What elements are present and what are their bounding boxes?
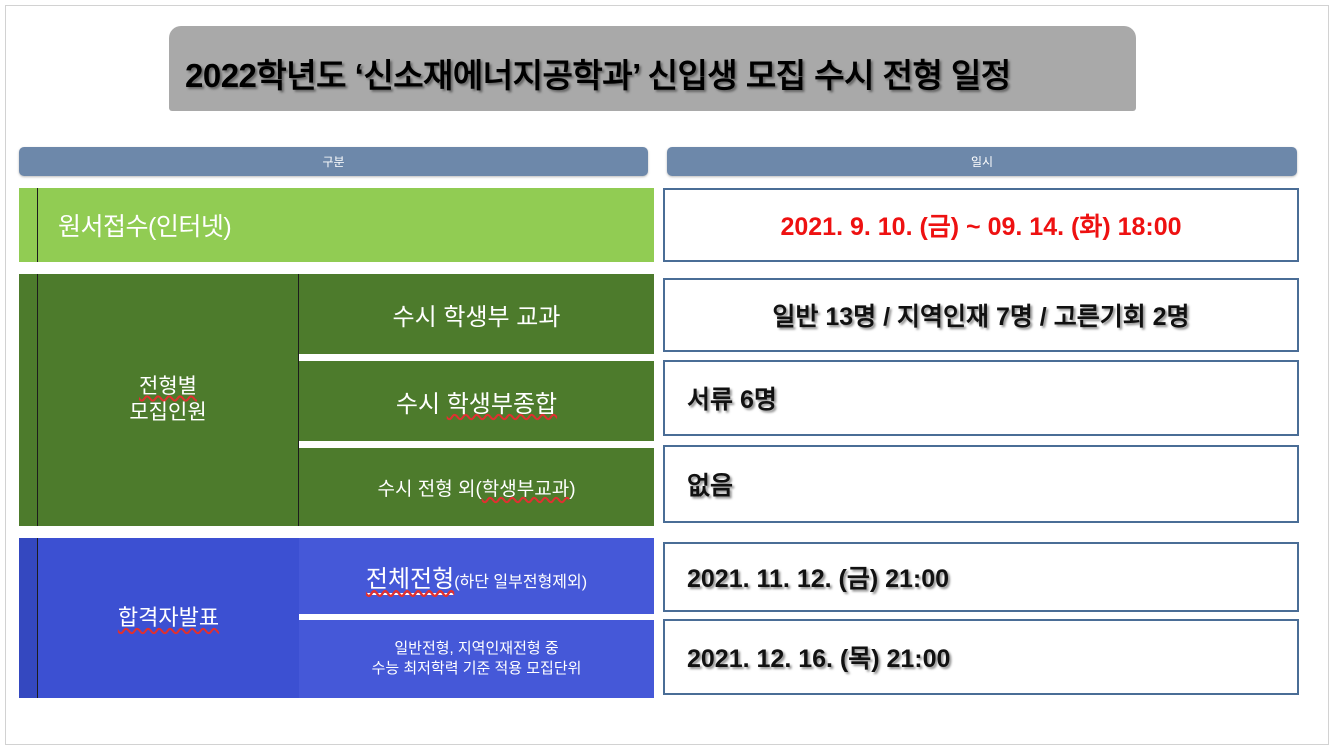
block-quota-body: 전형별 모집인원 수시 학생부 교과 수시 학생부종합 수시 전형 외(학생부교… bbox=[38, 274, 654, 526]
announcement-value-2: 2021. 12. 16. (목) 21:00 bbox=[665, 639, 1297, 675]
quota-subrow-susi-jonghap: 수시 학생부종합 bbox=[299, 361, 654, 441]
row-application-value: 2021. 9. 10. (금) ~ 09. 14. (화) 18:00 bbox=[665, 207, 1297, 243]
row-application-label: 원서접수(인터넷) bbox=[58, 207, 231, 243]
quota-subrow-susi-gyogwa: 수시 학생부 교과 bbox=[299, 274, 654, 354]
announcement-subrow-2-line2: 수능 최저학력 기준 적용 모집단위 bbox=[372, 660, 582, 677]
quota-value-2: 서류 6명 bbox=[665, 380, 1297, 416]
block-announcement-label-text: 합격자발표 bbox=[118, 604, 219, 632]
block-quota-category: 전형별 모집인원 수시 학생부 교과 수시 학생부종합 수시 전형 외(학생부교… bbox=[19, 274, 654, 526]
column-header-category-label: 구분 bbox=[322, 153, 344, 170]
announcement-subrow-1-paren: (하단 일부전형제외) bbox=[454, 574, 587, 591]
block-announcement-body: 합격자발표 전체전형(하단 일부전형제외) 일반전형, 지역인재전형 중 수능 … bbox=[38, 538, 654, 698]
quota-value-3: 없음 bbox=[665, 466, 1297, 502]
announcement-value-box-2: 2021. 12. 16. (목) 21:00 bbox=[663, 619, 1299, 695]
announcement-value-box-1: 2021. 11. 12. (금) 21:00 bbox=[663, 542, 1299, 612]
quota-subrow-1-prefix: 수시 bbox=[393, 304, 444, 331]
quota-value-1: 일반 13명 / 지역인재 7명 / 고른기회 2명 bbox=[665, 297, 1297, 333]
slide-title-box: 2022학년도 ‘신소재에너지공학과’ 신입생 모집 수시 전형 일정 bbox=[169, 26, 1136, 111]
quota-value-box-3: 없음 bbox=[663, 445, 1299, 523]
block-announcement-subrows: 전체전형(하단 일부전형제외) 일반전형, 지역인재전형 중 수능 최저학력 기… bbox=[299, 538, 654, 698]
quota-subrow-2-marked: 학생부종합 bbox=[447, 391, 557, 418]
row-application-value-box: 2021. 9. 10. (금) ~ 09. 14. (화) 18:00 bbox=[663, 188, 1299, 262]
announcement-subrow-all: 전체전형(하단 일부전형제외) bbox=[299, 538, 654, 614]
slide-canvas: 2022학년도 ‘신소재에너지공학과’ 신입생 모집 수시 전형 일정 구분 일… bbox=[5, 5, 1329, 745]
row-application-body: 원서접수(인터넷) bbox=[38, 188, 654, 262]
announcement-subrow-2-line1: 일반전형, 지역인재전형 중 bbox=[394, 640, 558, 657]
column-header-datetime: 일시 bbox=[667, 147, 1297, 176]
page-title: 2022학년도 ‘신소재에너지공학과’ 신입생 모집 수시 전형 일정 bbox=[185, 49, 1011, 97]
announcement-subrow-1-main: 전체전형 bbox=[366, 566, 454, 595]
quota-subrow-3-suffix: ) bbox=[569, 479, 575, 500]
block-quota-label: 전형별 모집인원 bbox=[38, 274, 299, 526]
block-quota-label-line1: 전형별 bbox=[139, 375, 197, 398]
column-header-datetime-label: 일시 bbox=[971, 153, 993, 170]
quota-subrow-susi-oe: 수시 전형 외(학생부교과) bbox=[299, 448, 654, 526]
quota-value-box-1: 일반 13명 / 지역인재 7명 / 고른기회 2명 bbox=[663, 278, 1299, 352]
block-quota-label-line2: 모집인원 bbox=[129, 401, 206, 424]
quota-subrow-1-marked: 학생부 교과 bbox=[443, 304, 560, 331]
quota-subrow-3-prefix: 수시 전형 외( bbox=[377, 479, 481, 500]
quota-subrow-3-marked: 학생부교과 bbox=[482, 479, 569, 500]
block-announcement-label: 합격자발표 bbox=[38, 538, 299, 698]
row-application-category: 원서접수(인터넷) bbox=[19, 188, 654, 262]
announcement-subrow-minimum: 일반전형, 지역인재전형 중 수능 최저학력 기준 적용 모집단위 bbox=[299, 620, 654, 698]
accent-strip bbox=[19, 538, 38, 698]
quota-subrow-2-prefix: 수시 bbox=[396, 391, 447, 418]
column-header-category: 구분 bbox=[19, 147, 648, 176]
accent-strip bbox=[19, 274, 38, 526]
quota-value-box-2: 서류 6명 bbox=[663, 360, 1299, 436]
block-quota-subrows: 수시 학생부 교과 수시 학생부종합 수시 전형 외(학생부교과) bbox=[299, 274, 654, 526]
announcement-value-1: 2021. 11. 12. (금) 21:00 bbox=[665, 559, 1297, 595]
accent-strip bbox=[19, 188, 38, 262]
block-announcement-category: 합격자발표 전체전형(하단 일부전형제외) 일반전형, 지역인재전형 중 수능 … bbox=[19, 538, 654, 698]
